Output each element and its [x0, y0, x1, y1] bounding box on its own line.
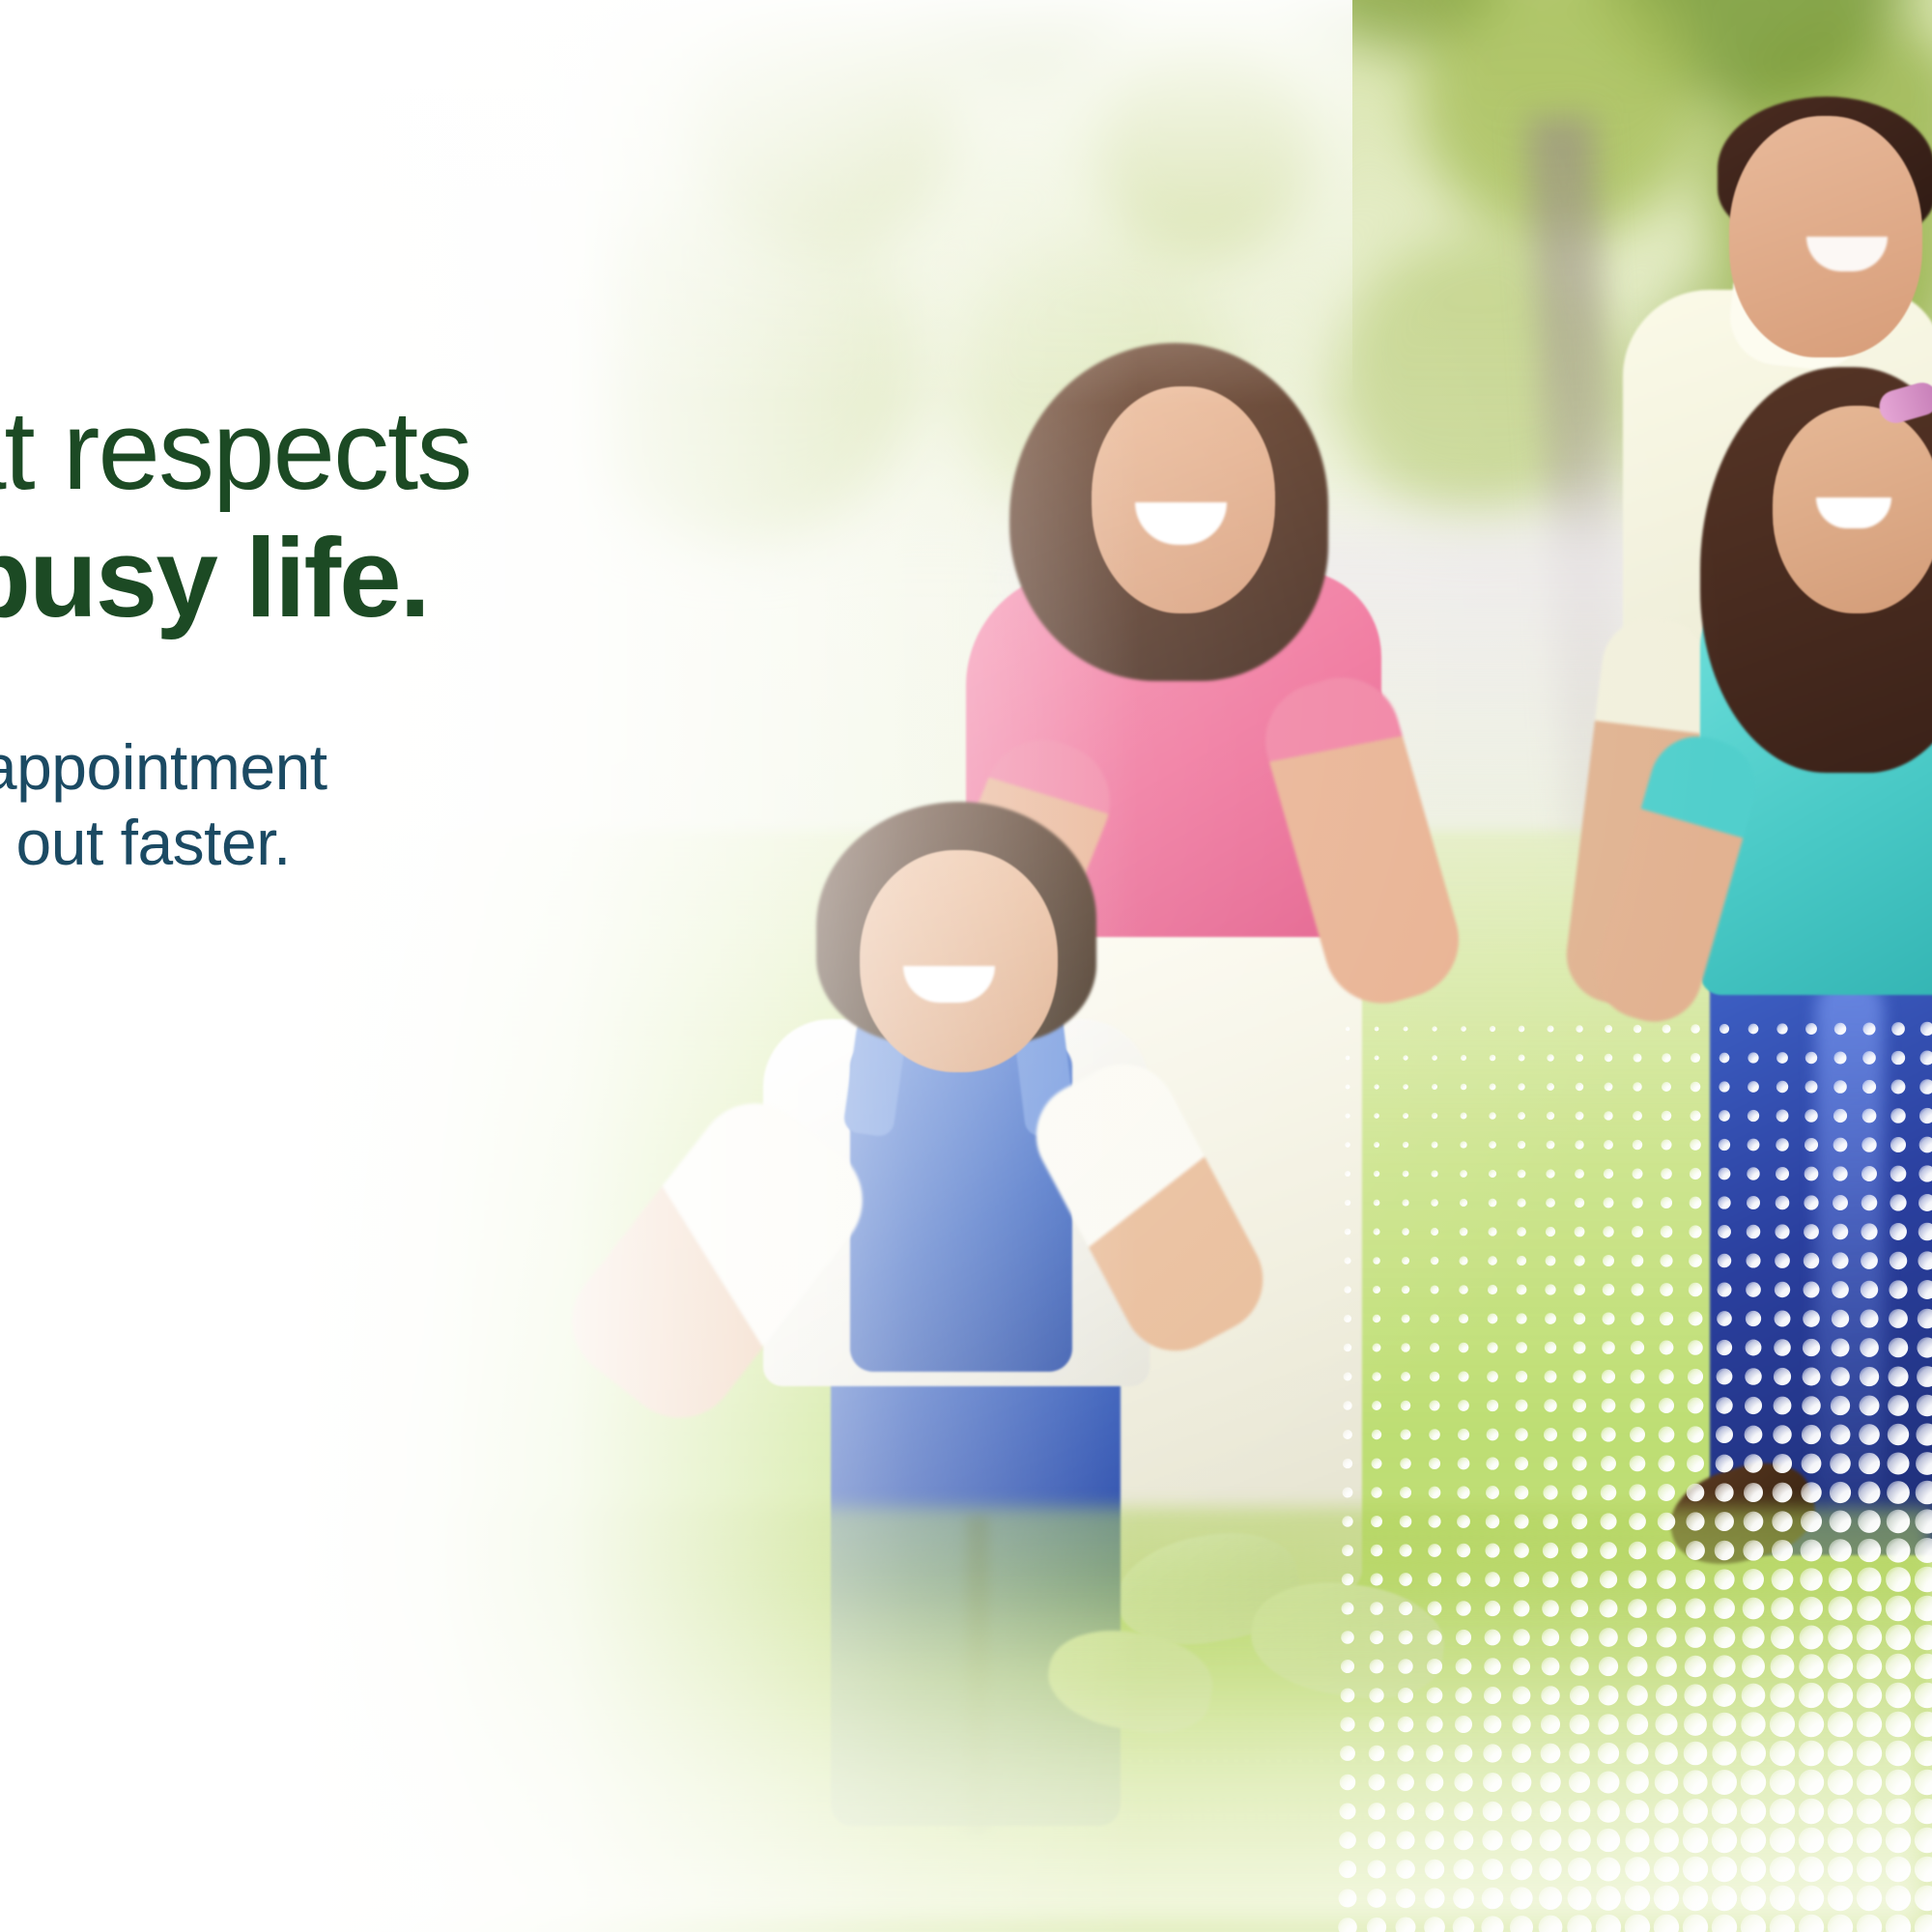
foreground-grass-highlight: [0, 1584, 1932, 1932]
subcopy-line-1: dule an appointment: [0, 730, 898, 806]
hero-photo: [0, 0, 1932, 1932]
boy-head: [860, 850, 1058, 1072]
headline: b that respectsour busy life.: [0, 386, 898, 641]
headline-line2: our busy life.: [0, 514, 898, 641]
mother-head: [1092, 386, 1275, 613]
subcopy: dule an appointment et in and out faster…: [0, 730, 898, 881]
banner-canvas: b that respectsour busy life. dule an ap…: [0, 0, 1932, 1932]
girl-jeans-highlight: [1816, 976, 1884, 1517]
subcopy-line-2: et in and out faster.: [0, 806, 898, 881]
copy-block: b that respectsour busy life. dule an ap…: [0, 386, 898, 881]
headline-line1-rest: that respects: [0, 387, 470, 513]
